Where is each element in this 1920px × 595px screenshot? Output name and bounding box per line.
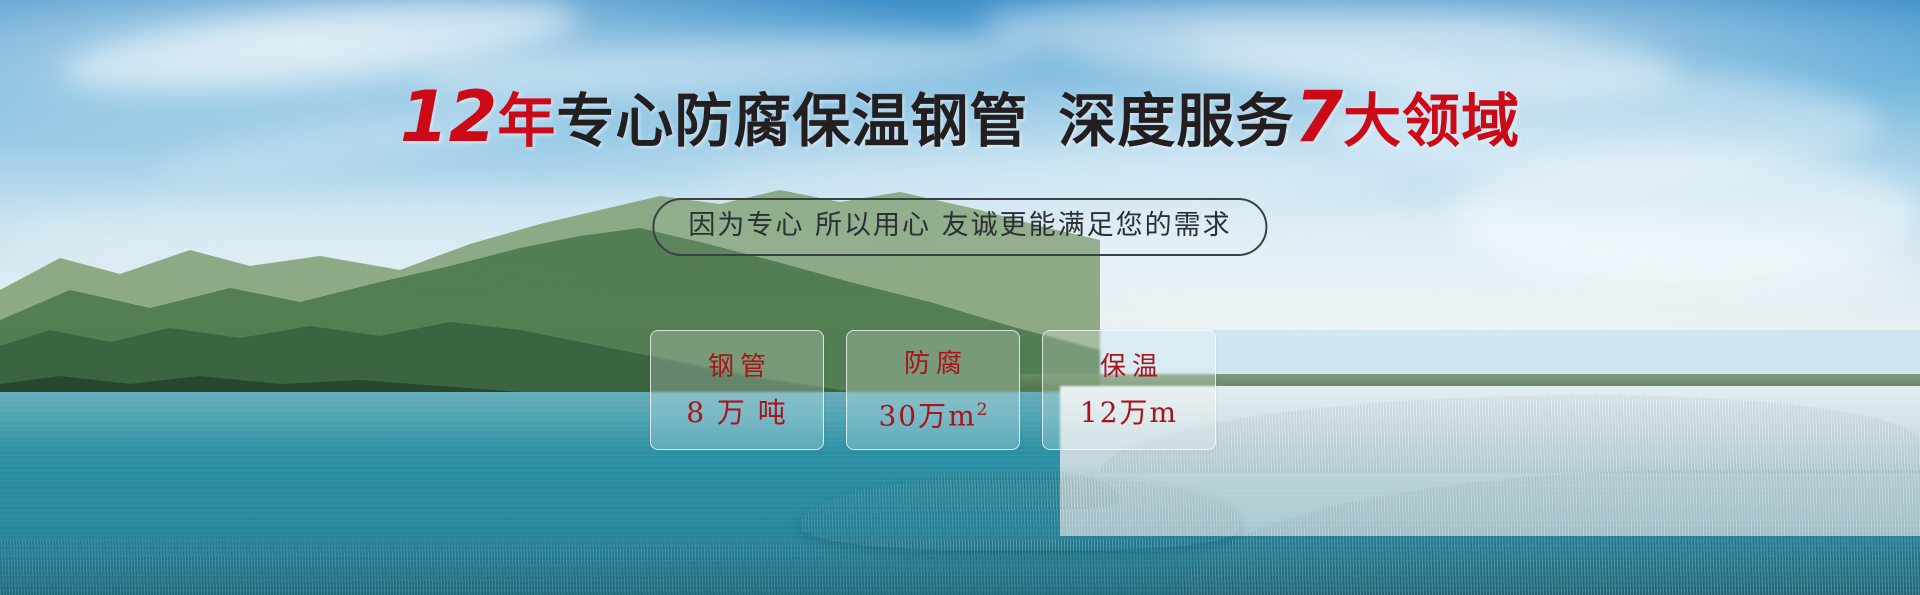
stat-card-title: 保温: [1094, 352, 1164, 382]
stat-card-value-text: 8 万 吨: [686, 396, 788, 429]
promo-banner: 12年专心防腐保温钢管深度服务7大领域 因为专心 所以用心 友诚更能满足您的需求…: [0, 0, 1920, 595]
stat-card-value: 12万m: [1080, 398, 1178, 428]
stat-card-value-superscript: 2: [977, 400, 988, 420]
foreground-grass: [0, 540, 1920, 595]
stat-card-steel-pipe[interactable]: 钢管 8 万 吨: [650, 330, 824, 450]
stat-card-title: 钢管: [702, 352, 772, 382]
headline-service-text: 深度服务: [1058, 87, 1294, 155]
headline-fields-unit: 大领域: [1343, 87, 1520, 155]
stat-card-value-text: 30万m: [878, 399, 976, 432]
stat-card-insulation[interactable]: 保温 12万m: [1042, 330, 1216, 450]
stat-card-anticorrosion[interactable]: 防腐 30万m2: [846, 330, 1020, 450]
stat-card-value: 30万m2: [878, 395, 987, 431]
headline: 12年专心防腐保温钢管深度服务7大领域: [0, 86, 1920, 152]
stat-card-value-text: 12万m: [1080, 396, 1178, 429]
stat-card-value: 8 万 吨: [686, 398, 788, 428]
grass-islet-top: [900, 470, 1120, 510]
headline-years-number: 12: [400, 76, 497, 158]
subtitle-pill: 因为专心 所以用心 友诚更能满足您的需求: [652, 198, 1267, 256]
headline-fields-number: 7: [1294, 76, 1343, 158]
headline-main-text: 专心防腐保温钢管: [556, 87, 1028, 155]
headline-years-unit: 年: [497, 87, 556, 155]
stat-card-title: 防腐: [898, 349, 968, 379]
stat-card-group: 钢管 8 万 吨 防腐 30万m2 保温 12万m: [650, 330, 1216, 450]
